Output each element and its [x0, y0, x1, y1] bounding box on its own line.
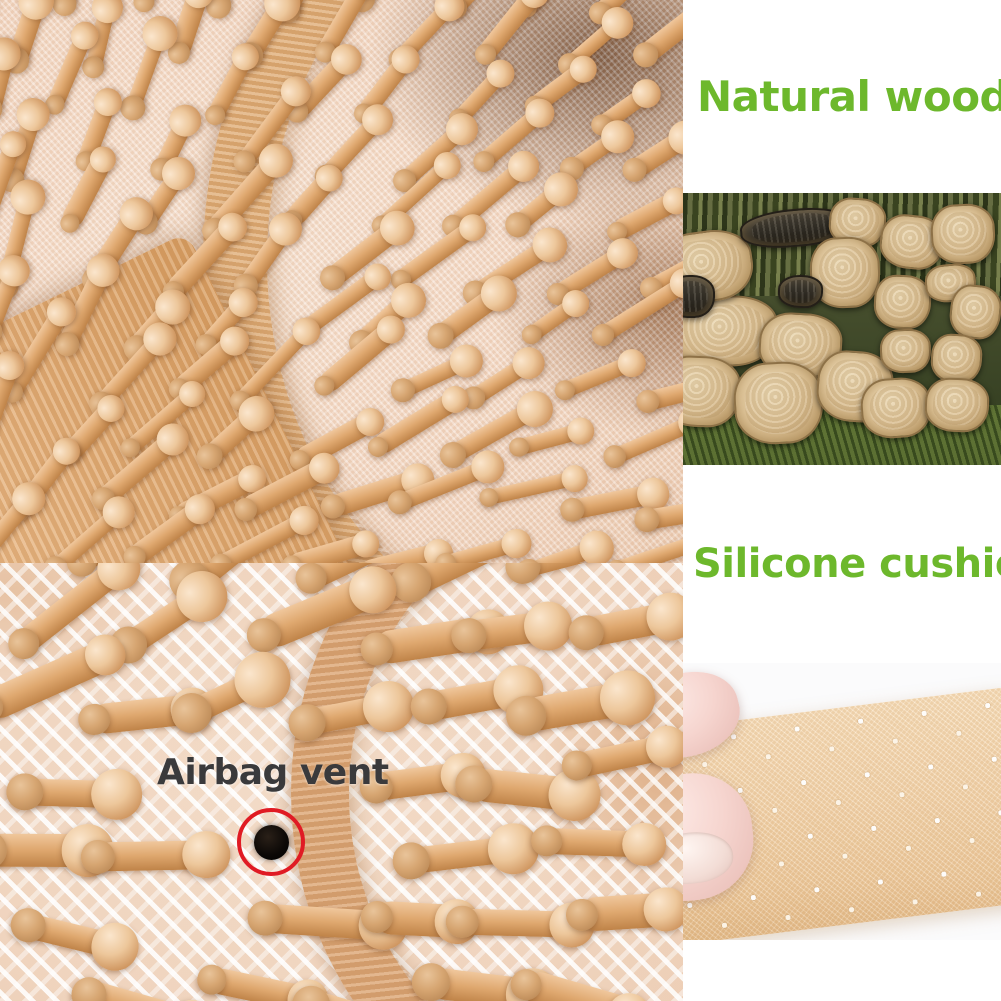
silicone-cushion-label: Silicone cushion: [683, 541, 1001, 587]
log-bark-side: [778, 274, 824, 308]
log-end-grain: [930, 333, 983, 385]
brush-pin: [95, 831, 206, 880]
log-end-grain: [879, 328, 931, 373]
airbag-vent-hole: [254, 825, 289, 860]
thumbnail: [683, 828, 736, 887]
bottom-right-white-filler: [683, 940, 1001, 1001]
panel-silicone-pad: [683, 663, 1001, 940]
brush-pin: [544, 819, 645, 866]
pin-ball-tip: [643, 722, 683, 772]
brush-pin: [22, 766, 117, 820]
pin-ball-tip: [90, 768, 143, 821]
panel-brush-pins-macro: [0, 0, 683, 563]
log-end-grain: [930, 202, 997, 265]
product-feature-collage: Airbag vent Natural wood Silicone cushio…: [0, 0, 1001, 1001]
panel-timber-logs: [683, 193, 1001, 465]
brush-pin: [464, 602, 551, 660]
natural-wood-caption-band: Natural wood: [683, 0, 1001, 193]
natural-wood-label: Natural wood: [683, 72, 1001, 121]
brush-pin: [459, 899, 573, 947]
silicone-cushion-caption-band: Silicone cushion: [683, 465, 1001, 663]
log-end-grain: [732, 359, 825, 445]
brush-pin: [578, 887, 667, 937]
log-end-grain: [873, 274, 932, 330]
brush-pin: [0, 824, 88, 877]
airbag-vent-label: Airbag vent: [157, 752, 389, 793]
pin-base: [445, 905, 478, 938]
log-end-grain: [924, 377, 989, 434]
